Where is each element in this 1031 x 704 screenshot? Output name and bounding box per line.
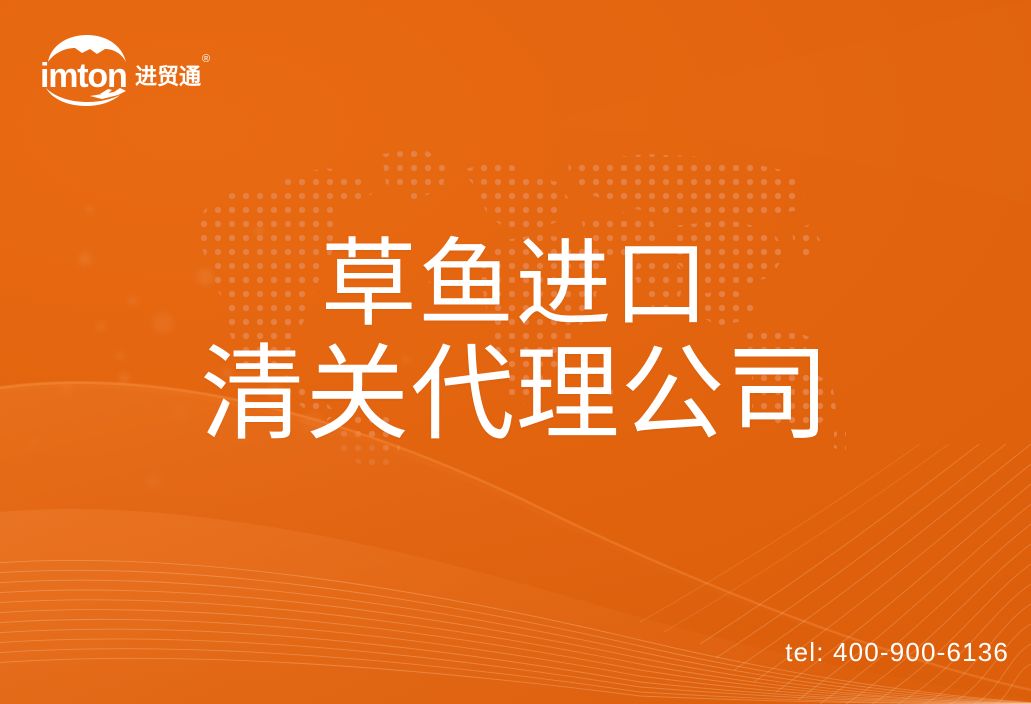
headline-line-2: 清关代理公司 [0,342,1031,448]
registered-trademark-icon: ® [202,53,210,65]
contact-telephone[interactable]: tel: 400-900-6136 [785,637,1009,668]
company-logo[interactable]: imton 进贸通 ® imton 进贸通 ® [38,32,218,108]
headline-block: 草鱼进口 清关代理公司 [0,236,1031,448]
logo-chinese-name: 进贸通 [135,65,201,90]
logo-wordmark: imton [40,57,127,95]
headline-line-1: 草鱼进口 [0,236,1031,334]
promotional-banner: imton 进贸通 ® imton 进贸通 ® 草鱼进口 清关代理公司 tel:… [0,0,1031,704]
